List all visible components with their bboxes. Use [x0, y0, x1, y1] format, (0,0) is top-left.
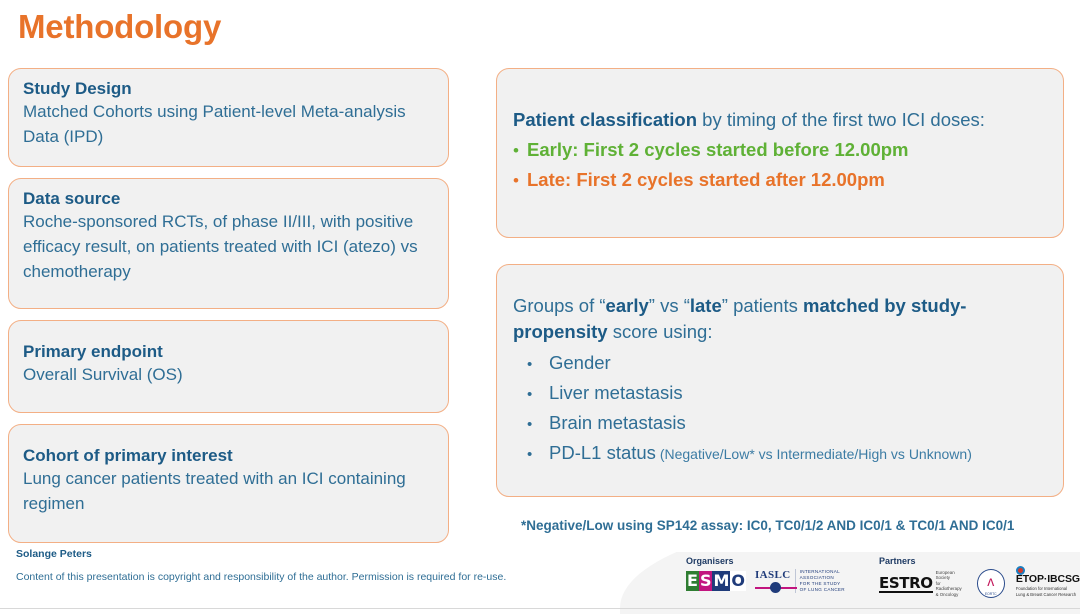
estro-tagline: European Society for Radiotherapy & Onco… — [936, 570, 968, 598]
iaslc-logo-icon: IASLC INTERNATIONAL ASSOCIATION FOR THE … — [755, 569, 845, 593]
list-item-label: PD-L1 status (Negative/Low* vs Intermedi… — [549, 441, 972, 466]
card-body: Matched Cohorts using Patient-level Meta… — [23, 99, 436, 149]
author-name: Solange Peters — [16, 548, 92, 560]
organisers-logo-row: E S M O IASLC INTERNATIONAL ASSOCIATION … — [686, 569, 845, 593]
list-item: • Late: First 2 cycles started after 12.… — [513, 167, 1049, 193]
circular-partner-logo-icon: ᴧ EORTC — [977, 569, 1005, 598]
classification-bullet-list: • Early: First 2 cycles started before 1… — [513, 137, 1049, 193]
bullet-dot-icon: • — [527, 447, 549, 462]
list-item-text: Liver metastasis — [549, 382, 683, 403]
card-cohort-of-primary-interest: Cohort of primary interest Lung cancer p… — [8, 424, 449, 543]
list-item: • PD-L1 status (Negative/Low* vs Interme… — [513, 441, 1049, 466]
list-item-label: Gender — [549, 351, 611, 375]
matching-intro-part3: ” patients — [722, 295, 803, 316]
circular-partner-glyph: ᴧ — [978, 574, 1004, 588]
matching-intro-bold: matched by study- — [803, 295, 966, 316]
matching-intro-part1: Groups of “ — [513, 295, 606, 316]
footnote: *Negative/Low using SP142 assay: IC0, TC… — [521, 518, 1014, 533]
bullet-dot-icon: • — [527, 417, 549, 432]
iaslc-tagline-line4: OF LUNG CANCER — [800, 587, 845, 593]
bullet-dot-icon: • — [513, 142, 527, 159]
etop-wordmark: ETOP·IBCSG — [1016, 573, 1080, 585]
etop-ibcsg-logo-icon: ETOP·IBCSG Foundation for International … — [1014, 570, 1080, 597]
iaslc-wordmark: IASLC — [755, 569, 791, 581]
estro-tagline-line2: for Radiotherapy — [936, 581, 968, 592]
etop-tagline: Foundation for International Lung & Brea… — [1016, 586, 1080, 597]
estro-wordmark: ESTRO — [879, 575, 933, 593]
list-item: • Early: First 2 cycles started before 1… — [513, 137, 1049, 163]
list-item-label: Liver metastasis — [549, 381, 683, 405]
list-item: • Brain metastasis — [513, 411, 1049, 435]
iaslc-globe-emblem-icon — [755, 582, 791, 593]
estro-tagline-line3: & Oncology — [936, 592, 968, 598]
card-title: Data source — [23, 188, 436, 209]
page-title: Methodology — [18, 8, 221, 46]
list-item: • Liver metastasis — [513, 381, 1049, 405]
copyright-notice: Content of this presentation is copyrigh… — [16, 571, 506, 583]
estro-tagline-line1: European Society — [936, 570, 968, 581]
footer-divider — [0, 608, 1080, 609]
bullet-label-early: Early: First 2 cycles started before 12.… — [527, 137, 909, 163]
matching-intro-early: early — [606, 295, 649, 316]
partners-label: Partners — [879, 556, 1080, 566]
iaslc-mark: IASLC — [755, 569, 791, 593]
list-item-subtext: (Negative/Low* vs Intermediate/High vs U… — [656, 446, 972, 462]
list-item-text: Brain metastasis — [549, 412, 686, 433]
classification-intro-rest: by timing of the first two ICI doses: — [697, 109, 985, 130]
bullet-label-late: Late: First 2 cycles started after 12.00… — [527, 167, 885, 193]
circular-partner-ring-text: EORTC — [978, 592, 1004, 596]
card-patient-classification: Patient classification by timing of the … — [496, 68, 1064, 238]
bullet-dot-icon: • — [527, 357, 549, 372]
esmo-letter-s: S — [699, 571, 713, 591]
organisers-logo-group: Organisers E S M O IASLC INTERNATIONAL A… — [686, 556, 845, 593]
iaslc-tagline: INTERNATIONAL ASSOCIATION FOR THE STUDY … — [795, 569, 845, 593]
matching-bullet-list: • Gender • Liver metastasis • Brain meta… — [513, 351, 1049, 466]
card-title: Study Design — [23, 78, 436, 99]
list-item-text: PD-L1 status — [549, 442, 656, 463]
classification-intro-bold: Patient classification — [513, 109, 697, 130]
list-item: • Gender — [513, 351, 1049, 375]
matching-intro-line2-rest: score using: — [608, 321, 713, 342]
etop-tagline-line2: Lung & Breast Cancer Research — [1016, 592, 1080, 597]
card-body: Roche-sponsored RCTs, of phase II/III, w… — [23, 209, 436, 284]
card-title: Primary endpoint — [23, 341, 436, 362]
matching-intro-line2-bold: propensity — [513, 321, 608, 342]
matching-intro-part2: ” vs “ — [649, 295, 690, 316]
card-matching-criteria: Groups of “early” vs “late” patients mat… — [496, 264, 1064, 497]
esmo-letter-m: M — [712, 571, 730, 591]
bullet-dot-icon: • — [527, 387, 549, 402]
esmo-letter-o: O — [730, 571, 746, 591]
card-primary-endpoint: Primary endpoint Overall Survival (OS) — [8, 320, 449, 413]
bullet-dot-icon: • — [513, 172, 527, 189]
list-item-text: Gender — [549, 352, 611, 373]
partners-logo-row: ESTRO European Society for Radiotherapy … — [879, 569, 1080, 598]
card-body: Overall Survival (OS) — [23, 362, 436, 387]
globe-icon — [770, 582, 781, 593]
card-study-design: Study Design Matched Cohorts using Patie… — [8, 68, 449, 167]
matching-intro-late: late — [690, 295, 722, 316]
matching-intro: Groups of “early” vs “late” patients mat… — [513, 293, 1049, 345]
card-body: Lung cancer patients treated with an ICI… — [23, 466, 436, 516]
partners-logo-group: Partners ESTRO European Society for Radi… — [879, 556, 1080, 598]
card-data-source: Data source Roche-sponsored RCTs, of pha… — [8, 178, 449, 309]
esmo-logo-icon: E S M O — [686, 571, 746, 591]
card-title: Cohort of primary interest — [23, 445, 436, 466]
etop-dot-icon — [1016, 566, 1025, 575]
organisers-label: Organisers — [686, 556, 845, 566]
list-item-label: Brain metastasis — [549, 411, 686, 435]
estro-logo-icon: ESTRO European Society for Radiotherapy … — [879, 570, 968, 598]
esmo-letter-e: E — [686, 571, 699, 591]
classification-intro: Patient classification by timing of the … — [513, 107, 1049, 133]
